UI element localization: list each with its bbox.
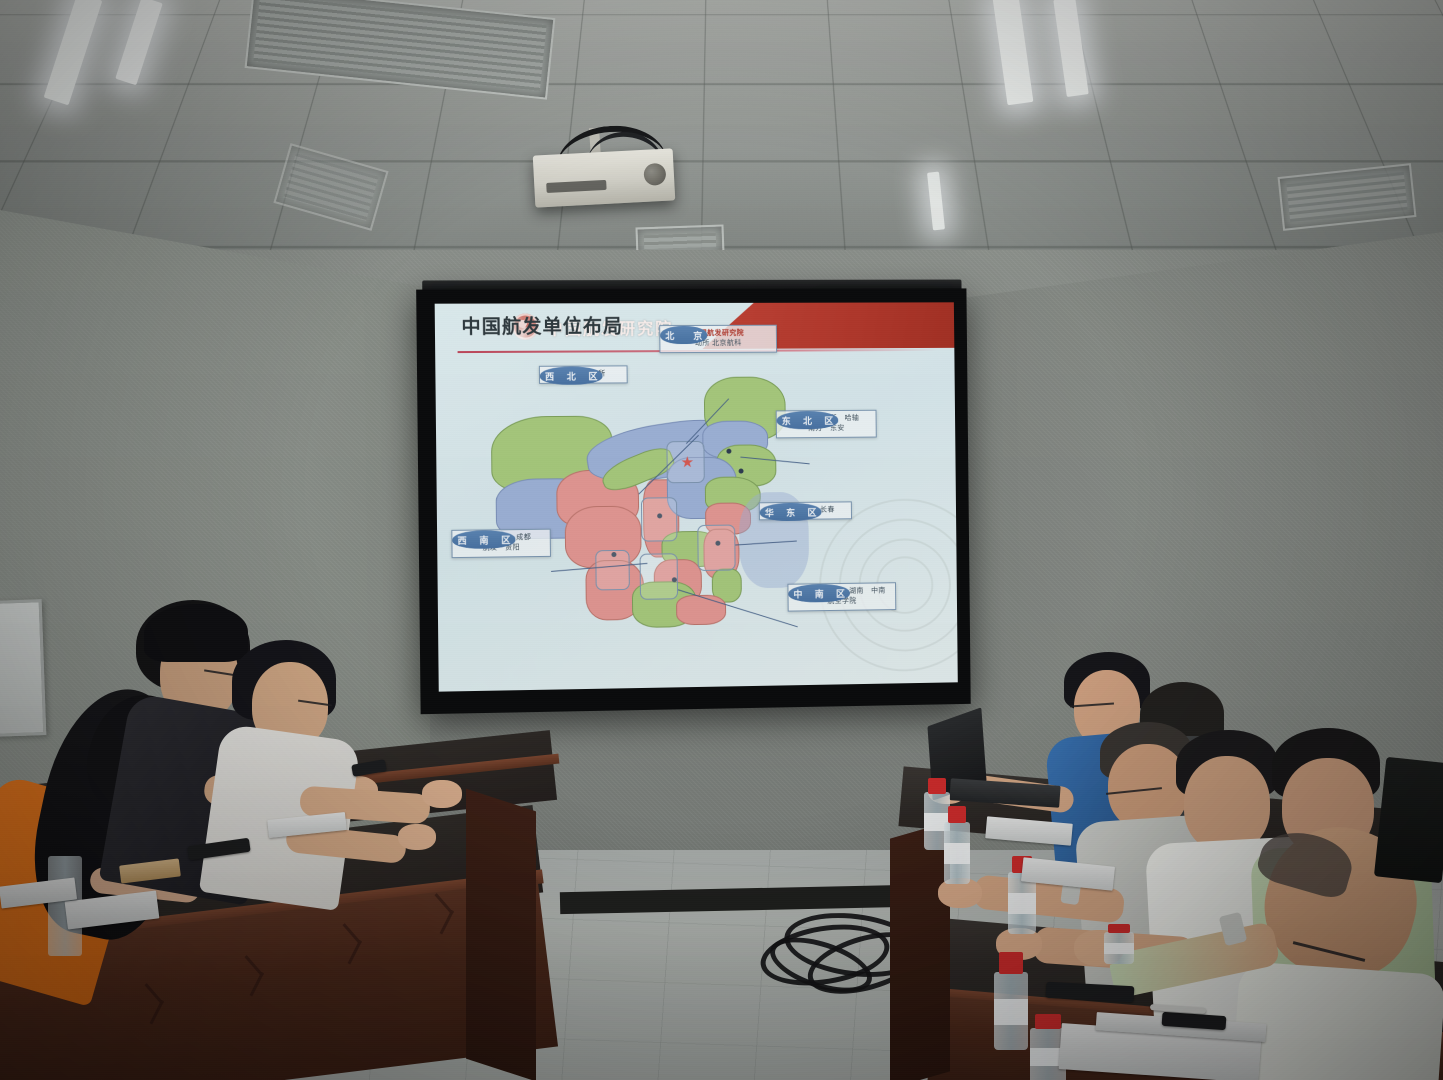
card-header: 西 南 区 [452,530,515,549]
whiteboard [0,599,46,737]
map-callout-region [697,525,735,571]
hair-top [144,604,248,662]
head [1184,756,1270,852]
water-bottle [1104,924,1134,964]
map-callout-region [640,553,679,600]
ceiling-projector [533,148,676,207]
speaker-slats [644,233,716,250]
water-bottle [994,952,1028,1050]
conference-room-photo: 中国航发研究院 中国航发单位布局 [0,0,1443,1080]
projector-lens-icon [643,163,666,186]
card-header: 东 北 区 [777,411,839,429]
map-label-card-huadong: 华 东 区 商发 上电 长春 [759,501,852,520]
hand [422,780,462,808]
map-label-card-xinan: 西 南 区 成发 燃机 成都 航发 贵阳 [451,529,551,559]
projection-screen: 中国航发研究院 中国航发单位布局 [416,288,971,714]
chair-back [1374,757,1443,883]
map-callout-region [595,550,630,591]
desk-side-panel [466,789,536,1080]
vent-slats [1286,172,1407,222]
desk-side-panel [890,821,950,1080]
slide-content: 中国航发研究院 中国航发单位布局 [435,302,958,691]
map-dot [739,469,744,474]
card-header: 西 北 区 [540,366,603,384]
card-header: 华 东 区 [760,503,822,522]
projector-plate [546,180,606,193]
map-callout-region [641,497,678,541]
map-dot [726,449,731,454]
torso [1232,961,1443,1080]
slide-title: 中国航发单位布局 [461,311,623,339]
hand [398,824,436,850]
water-bottle [944,806,970,884]
map-label-card-beijing: 北 京 中国航发研究院 动所 北京航科 [659,325,777,354]
map-province [676,595,726,626]
map-label-card-dongbei: 东 北 区 黎明 沈阳所 哈轴 南方 东安 [776,410,877,439]
card-header: 中 南 区 [788,584,849,603]
map-label-card-xibei: 西 北 区 西航 动力所 [539,365,628,384]
card-header: 北 京 [660,326,707,344]
map-label-card-zhongnan: 中 南 区 南方 株洲所 湖南 中南 航空学院 [787,582,896,612]
